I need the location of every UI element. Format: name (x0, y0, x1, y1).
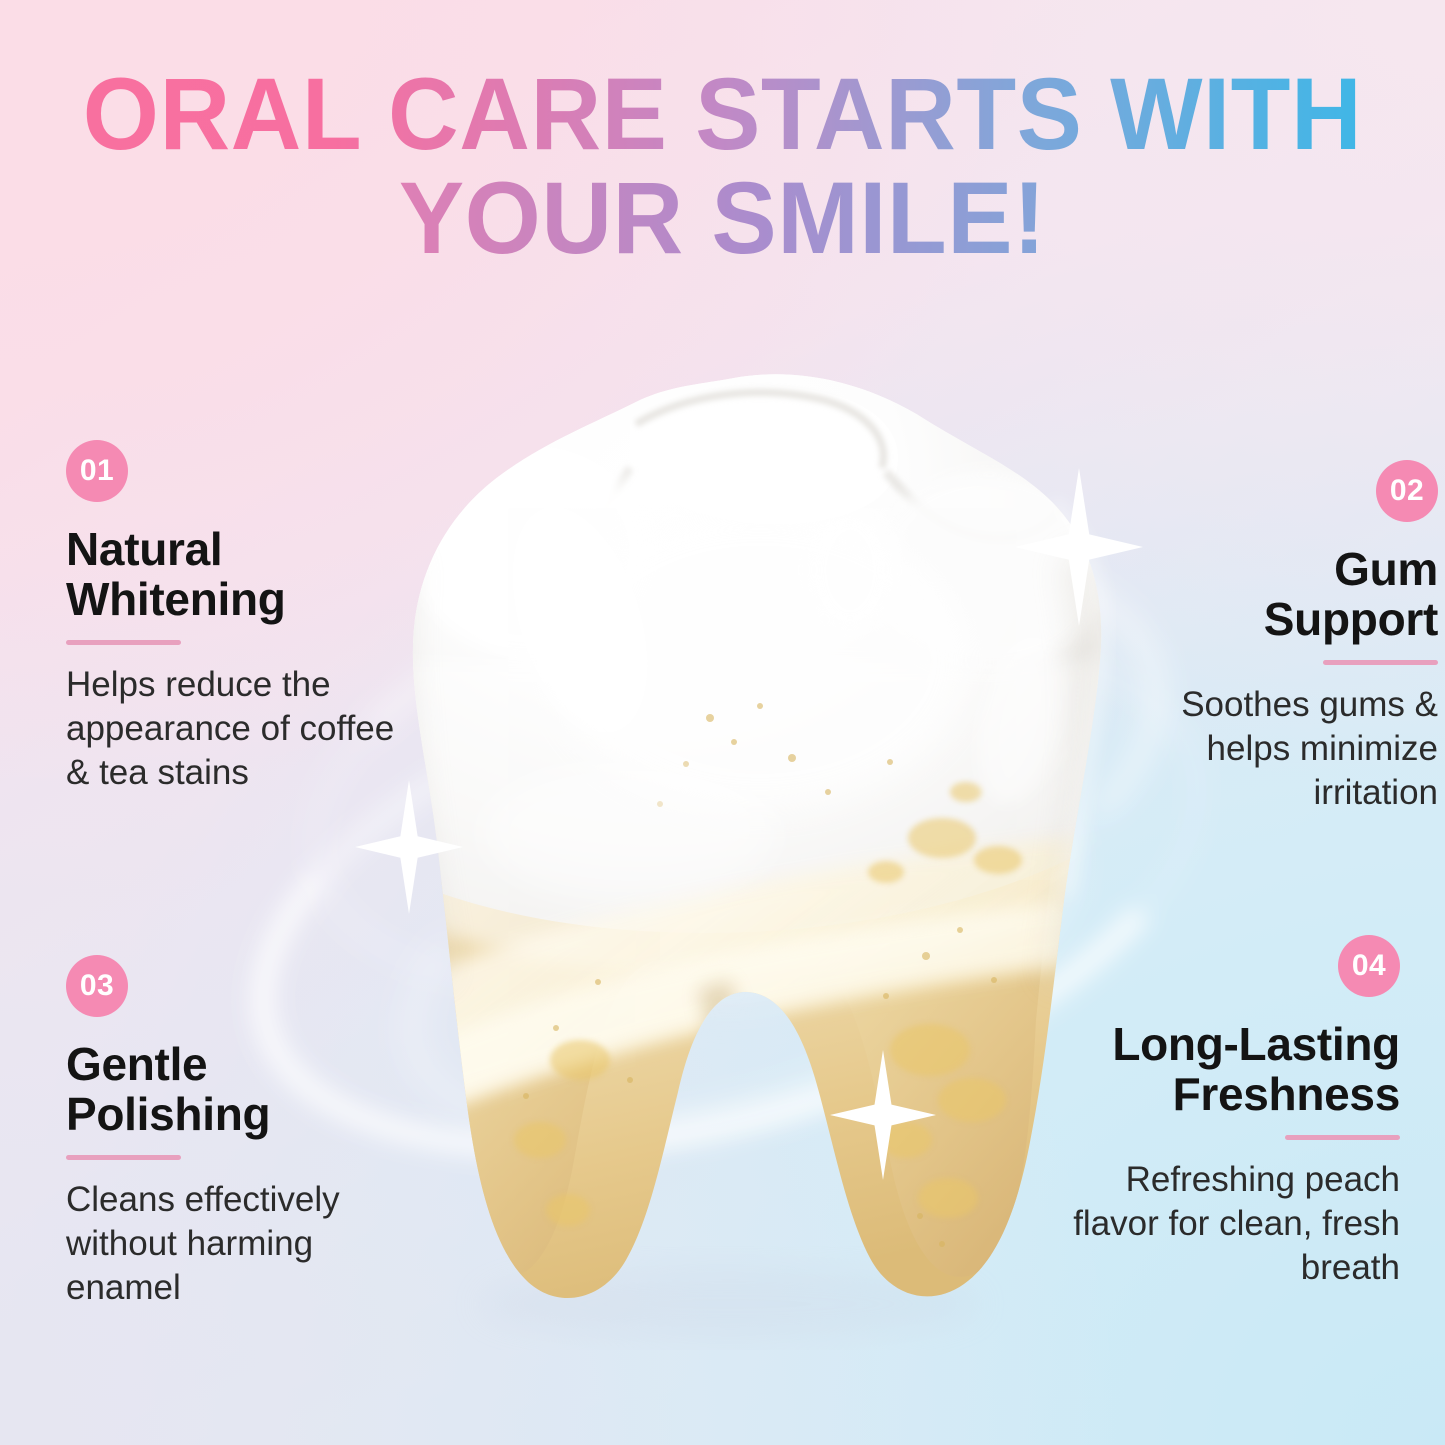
feature-number-badge: 02 (1376, 460, 1438, 522)
feature-divider (1323, 660, 1438, 665)
feature-description: Cleans effectively without harming ename… (66, 1178, 396, 1310)
headline-line-1: ORAL CARE STARTS WITH (29, 62, 1416, 166)
feature-title: Gum Support (1108, 544, 1438, 644)
feature-card-04: 04 Long-Lasting Freshness Refreshing pea… (1070, 935, 1400, 1290)
feature-description: Soothes gums & helps minimize irritation (1108, 683, 1438, 815)
headline-line-2: YOUR SMILE! (29, 166, 1416, 270)
feature-number-badge: 04 (1338, 935, 1400, 997)
feature-card-03: 03 Gentle Polishing Cleans effectively w… (66, 955, 396, 1310)
feature-number-badge: 03 (66, 955, 128, 1017)
feature-title: Long-Lasting Freshness (1070, 1019, 1400, 1119)
promo-poster: ORAL CARE STARTS WITH YOUR SMILE! (0, 0, 1445, 1445)
tooth-icon (330, 360, 1130, 1350)
feature-divider (66, 640, 181, 645)
page-title: ORAL CARE STARTS WITH YOUR SMILE! (0, 62, 1445, 270)
feature-divider (66, 1155, 181, 1160)
feature-divider (1285, 1135, 1400, 1140)
feature-title: Gentle Polishing (66, 1039, 396, 1139)
feature-title: Natural Whitening (66, 524, 396, 624)
tooth-illustration (330, 360, 1130, 1350)
feature-description: Helps reduce the appearance of coffee & … (66, 663, 396, 795)
feature-number-badge: 01 (66, 440, 128, 502)
feature-description: Refreshing peach flavor for clean, fresh… (1070, 1158, 1400, 1290)
feature-card-01: 01 Natural Whitening Helps reduce the ap… (66, 440, 396, 795)
feature-card-02: 02 Gum Support Soothes gums & helps mini… (1108, 460, 1438, 815)
